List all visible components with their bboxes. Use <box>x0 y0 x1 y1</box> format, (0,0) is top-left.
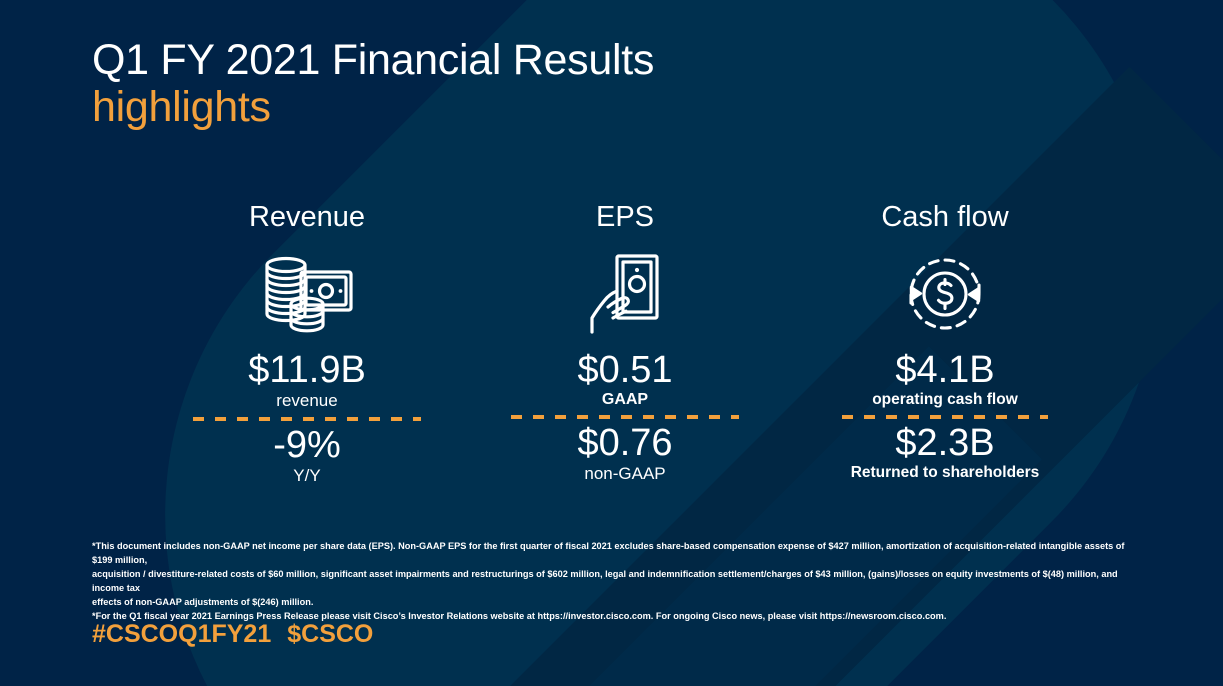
ticker-symbol: $CSCO <box>287 620 373 649</box>
metric-values-cash-flow: $4.1B operating cash flow $2.3B Returned… <box>786 350 1104 482</box>
social-tags: #CSCOQ1FY21 $CSCO <box>92 620 373 649</box>
metric-values-eps: $0.51 GAAP $0.76 non-GAAP <box>466 350 784 484</box>
metric-values-revenue: $11.9B revenue -9% Y/Y <box>148 350 466 485</box>
page-title-accent: highlights <box>92 85 892 130</box>
hashtag-campaign: #CSCOQ1FY21 <box>92 620 271 649</box>
metric-primary-label-eps: GAAP <box>602 391 648 409</box>
metric-primary-value-cash-flow: $4.1B <box>895 350 994 391</box>
metric-primary-value-eps: $0.51 <box>577 350 672 391</box>
metric-title-eps: EPS <box>596 203 654 232</box>
metric-secondary-label-cash-flow: Returned to shareholders <box>851 464 1040 482</box>
footnote-line-3: effects of non-GAAP adjustments of $(246… <box>92 596 1142 610</box>
metric-title-revenue: Revenue <box>249 203 365 232</box>
metric-primary-label-revenue: revenue <box>276 391 337 411</box>
metric-secondary-label-eps: non-GAAP <box>584 464 665 484</box>
slide-header: Q1 FY 2021 Financial Results highlights <box>92 38 892 129</box>
coins-and-banknote-icon <box>257 246 357 342</box>
metric-secondary-label-revenue: Y/Y <box>293 466 320 486</box>
metric-divider-cash-flow <box>842 415 1048 419</box>
metric-primary-label-cash-flow: operating cash flow <box>872 391 1018 409</box>
metric-divider-eps <box>511 415 739 419</box>
dollar-cycle-arrows-icon <box>897 246 993 342</box>
footnotes: *This document includes non-GAAP net inc… <box>92 540 1142 624</box>
metric-secondary-value-eps: $0.76 <box>577 423 672 464</box>
page-title-primary: Q1 FY 2021 Financial Results <box>92 38 892 83</box>
footnote-line-2: acquisition / divestiture-related costs … <box>92 568 1142 596</box>
metrics-row: Revenue <box>0 203 1223 485</box>
metric-card-eps: EPS $0.51 GAAP $0.76 <box>466 203 784 484</box>
metric-divider-revenue <box>193 417 421 421</box>
footnote-line-1: *This document includes non-GAAP net inc… <box>92 540 1142 568</box>
metric-primary-value-revenue: $11.9B <box>248 350 366 391</box>
metric-card-revenue: Revenue <box>148 203 466 485</box>
metric-secondary-value-revenue: -9% <box>273 425 341 466</box>
metric-secondary-value-cash-flow: $2.3B <box>895 423 994 464</box>
metric-title-cash-flow: Cash flow <box>881 203 1008 232</box>
financial-results-slide: Q1 FY 2021 Financial Results highlights … <box>0 0 1223 686</box>
metric-card-cash-flow: Cash flow <box>786 203 1104 482</box>
hand-holding-banknote-icon <box>588 246 662 342</box>
